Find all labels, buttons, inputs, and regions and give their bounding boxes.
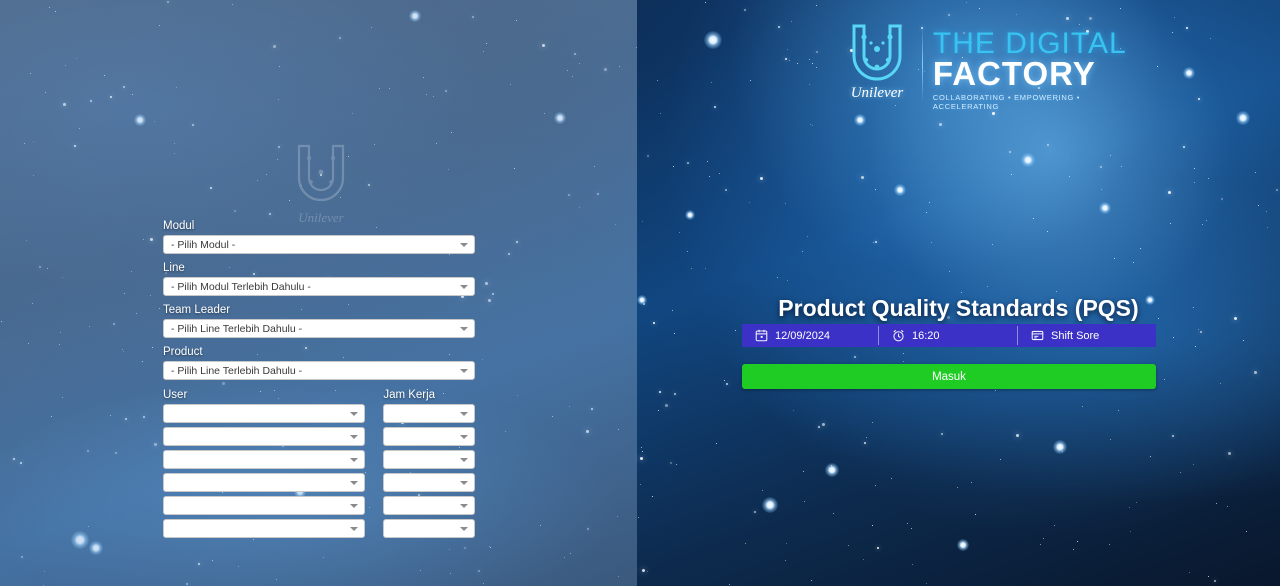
chevron-down-icon (460, 243, 468, 247)
chevron-down-icon (460, 369, 468, 373)
user-select-6[interactable] (163, 519, 365, 538)
chevron-down-icon (350, 435, 358, 439)
select-team-leader[interactable]: - Pilih Line Terlebih Dahulu - (163, 319, 475, 338)
chevron-down-icon (460, 481, 468, 485)
select-modul[interactable]: - Pilih Modul - (163, 235, 475, 254)
chevron-down-icon (460, 504, 468, 508)
table-row (163, 519, 475, 538)
chevron-down-icon (350, 412, 358, 416)
chevron-down-icon (460, 435, 468, 439)
column-header-user: User (163, 388, 365, 402)
login-screen: Unilever Modul - Pilih Modul - Line - Pi… (0, 0, 1280, 586)
user-select-2[interactable] (163, 427, 365, 446)
chevron-down-icon (350, 481, 358, 485)
chip-date: 12/09/2024 (742, 324, 878, 347)
table-row (163, 427, 475, 446)
shift-card-icon (1031, 329, 1044, 342)
user-cell (163, 450, 365, 469)
select-product[interactable]: - Pilih Line Terlebih Dahulu - (163, 361, 475, 380)
jam-kerja-select-3[interactable] (383, 450, 475, 469)
chip-date-text: 12/09/2024 (775, 330, 830, 342)
select-team-leader-value: - Pilih Line Terlebih Dahulu - (171, 322, 302, 336)
unilever-logo-icon: Unilever (838, 23, 916, 107)
jam-kerja-cell (383, 450, 475, 469)
jam-kerja-select-5[interactable] (383, 496, 475, 515)
select-line[interactable]: - Pilih Modul Terlebih Dahulu - (163, 277, 475, 296)
chevron-down-icon (460, 285, 468, 289)
jam-kerja-select-4[interactable] (383, 473, 475, 492)
user-select-5[interactable] (163, 496, 365, 515)
user-cell (163, 519, 365, 538)
logo-tagline: COLLABORATING • EMPOWERING • ACCELERATIN… (933, 93, 1138, 111)
user-select-3[interactable] (163, 450, 365, 469)
field-group-line: Line - Pilih Modul Terlebih Dahulu - (163, 261, 475, 296)
jam-kerja-select-6[interactable] (383, 519, 475, 538)
jam-kerja-cell (383, 427, 475, 446)
table-row (163, 450, 475, 469)
table-header: User Jam Kerja (163, 388, 475, 402)
user-select-4[interactable] (163, 473, 365, 492)
login-form: Modul - Pilih Modul - Line - Pilih Modul… (163, 219, 475, 387)
session-info-bar: 12/09/2024 16:20 Shift Sore (742, 324, 1156, 347)
alarm-clock-icon (892, 329, 905, 342)
logo-line-factory: FACTORY (933, 57, 1138, 90)
field-group-team-leader: Team Leader - Pilih Line Terlebih Dahulu… (163, 303, 475, 338)
chip-time-text: 16:20 (912, 330, 940, 342)
user-cell (163, 404, 365, 423)
chevron-down-icon (350, 458, 358, 462)
unilever-wordmark: Unilever (851, 86, 903, 101)
calendar-icon (755, 329, 768, 342)
chevron-down-icon (460, 527, 468, 531)
select-modul-value: - Pilih Modul - (171, 238, 235, 252)
chip-shift-text: Shift Sore (1051, 330, 1099, 342)
select-product-value: - Pilih Line Terlebih Dahulu - (171, 364, 302, 378)
jam-kerja-cell (383, 404, 475, 423)
chevron-down-icon (350, 504, 358, 508)
chevron-down-icon (460, 412, 468, 416)
user-cell (163, 496, 365, 515)
column-header-jam-kerja: Jam Kerja (383, 388, 475, 402)
label-team-leader: Team Leader (163, 303, 475, 317)
user-shift-table: User Jam Kerja (163, 388, 475, 542)
page-title: Product Quality Standards (PQS) (637, 294, 1280, 322)
table-row (163, 473, 475, 492)
submit-button[interactable]: Masuk (742, 364, 1156, 389)
label-line: Line (163, 261, 475, 275)
digital-factory-lockup: THE DIGITAL FACTORY COLLABORATING • EMPO… (933, 23, 1138, 111)
chip-time: 16:20 (879, 324, 1017, 347)
table-rows (163, 404, 475, 538)
brand-logo: Unilever THE DIGITAL FACTORY COLLABORATI… (838, 23, 1138, 107)
chevron-down-icon (460, 327, 468, 331)
user-select-1[interactable] (163, 404, 365, 423)
field-group-product: Product - Pilih Line Terlebih Dahulu - (163, 345, 475, 380)
chevron-down-icon (460, 458, 468, 462)
chip-shift: Shift Sore (1018, 324, 1156, 347)
select-line-value: - Pilih Modul Terlebih Dahulu - (171, 280, 311, 294)
jam-kerja-cell (383, 519, 475, 538)
label-product: Product (163, 345, 475, 359)
jam-kerja-select-2[interactable] (383, 427, 475, 446)
jam-kerja-cell (383, 496, 475, 515)
user-cell (163, 473, 365, 492)
table-row (163, 404, 475, 423)
field-group-modul: Modul - Pilih Modul - (163, 219, 475, 254)
jam-kerja-cell (383, 473, 475, 492)
logo-divider (922, 25, 923, 103)
user-cell (163, 427, 365, 446)
chevron-down-icon (350, 527, 358, 531)
label-modul: Modul (163, 219, 475, 233)
table-row (163, 496, 475, 515)
jam-kerja-select-1[interactable] (383, 404, 475, 423)
